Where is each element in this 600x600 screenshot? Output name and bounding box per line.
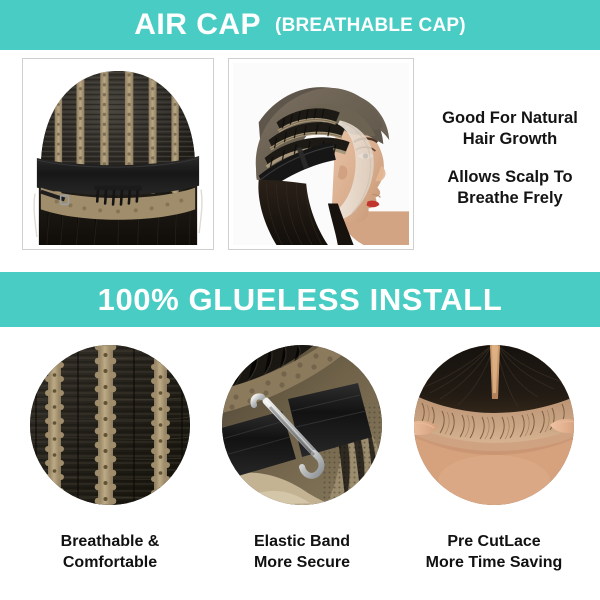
feature-circle-pre-cut-lace — [414, 345, 574, 505]
header-title: AIR CAP — [134, 10, 261, 40]
feature-text-block: Good For Natural Hair Growth Allows Scal… — [424, 108, 596, 209]
caption-1-line-1: Breathable & — [61, 533, 160, 550]
header-subtitle: (BREATHABLE CAP) — [275, 16, 466, 35]
infographic-page: AIR CAP (BREATHABLE CAP) — [0, 0, 600, 600]
elastic-band-buckle-closeup-image — [222, 345, 382, 505]
caption-2-line-1: Elastic Band — [254, 533, 350, 550]
caption-1-line-2: Comfortable — [10, 553, 210, 574]
caption-elastic-band: Elastic Band More Secure — [202, 532, 402, 574]
feature-circle-elastic-band — [222, 345, 382, 505]
photo-frame-cap-back — [22, 58, 214, 250]
wig-cap-side-view-image — [233, 63, 409, 245]
section-banner-title: 100% GLUELESS INSTALL — [98, 284, 503, 315]
breathable-wefts-closeup-image — [30, 345, 190, 505]
caption-3-line-2: More Time Saving — [394, 553, 594, 574]
feature-1-line-1: Good For Natural — [424, 108, 596, 129]
feature-spacer — [424, 150, 596, 167]
photo-frame-cap-side — [228, 58, 414, 250]
wig-cap-back-view-image — [27, 63, 209, 245]
pre-cut-lace-hairline-closeup-image — [414, 345, 574, 505]
caption-pre-cut-lace: Pre CutLace More Time Saving — [394, 532, 594, 574]
feature-1-line-2: Hair Growth — [424, 129, 596, 150]
feature-2-line-2: Breathe Frely — [424, 188, 596, 209]
feature-circle-breathable — [30, 345, 190, 505]
caption-2-line-2: More Secure — [202, 553, 402, 574]
header-banner-air-cap: AIR CAP (BREATHABLE CAP) — [0, 0, 600, 50]
caption-breathable: Breathable & Comfortable — [10, 532, 210, 574]
feature-2-line-1: Allows Scalp To — [424, 167, 596, 188]
caption-3-line-1: Pre CutLace — [447, 533, 540, 550]
section-banner-glueless-install: 100% GLUELESS INSTALL — [0, 272, 600, 327]
